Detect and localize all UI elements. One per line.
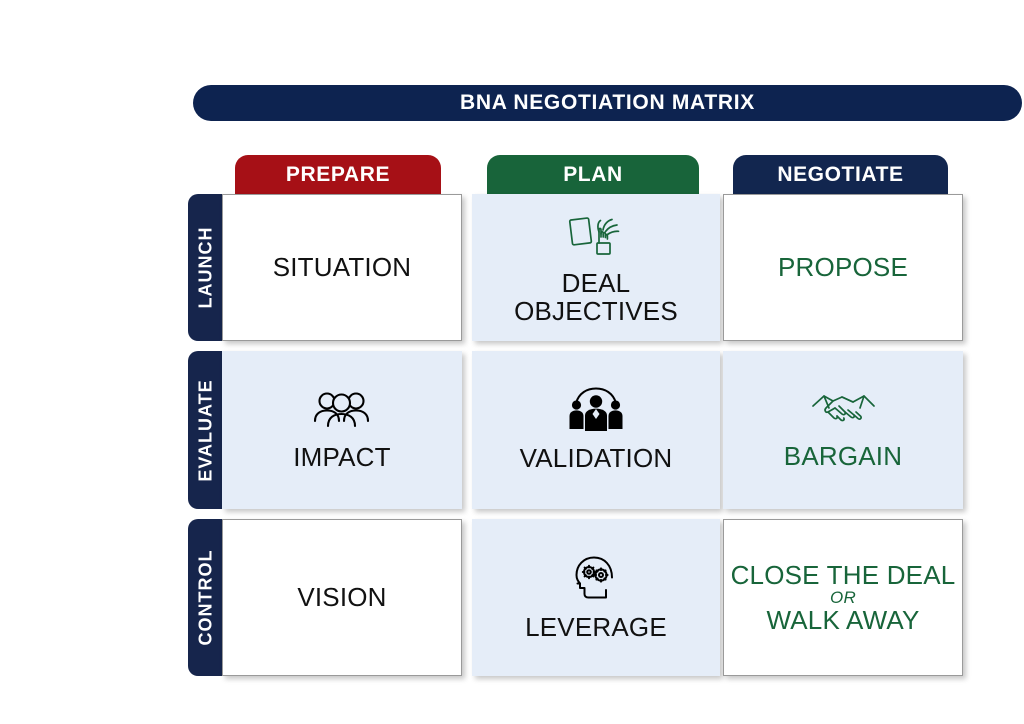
- cell-launch-plan-label-line2: OBJECTIVES: [514, 297, 678, 325]
- column-header-plan[interactable]: PLAN: [487, 155, 699, 195]
- cell-control-negotiate-label-or: OR: [731, 589, 956, 606]
- cell-launch-plan[interactable]: DEAL OBJECTIVES: [472, 194, 720, 341]
- cell-evaluate-plan[interactable]: VALIDATION: [472, 351, 720, 509]
- cell-launch-prepare[interactable]: SITUATION: [222, 194, 462, 341]
- column-header-negotiate-label: NEGOTIATE: [777, 163, 903, 187]
- head-with-gears-icon: [568, 554, 624, 607]
- cell-launch-prepare-label: SITUATION: [273, 253, 412, 281]
- cell-launch-negotiate[interactable]: PROPOSE: [723, 194, 963, 341]
- cell-control-negotiate-label-line2: WALK AWAY: [731, 606, 956, 634]
- handshake-icon: [808, 389, 878, 436]
- cell-launch-plan-label-line1: DEAL: [514, 269, 678, 297]
- column-header-negotiate[interactable]: NEGOTIATE: [733, 155, 948, 195]
- matrix-title-banner: BNA NEGOTIATION MATRIX: [193, 85, 1022, 121]
- cell-evaluate-prepare[interactable]: IMPACT: [222, 351, 462, 509]
- cell-evaluate-negotiate-label: BARGAIN: [784, 442, 902, 470]
- cell-control-prepare-label: VISION: [297, 583, 386, 611]
- row-tab-evaluate[interactable]: EVALUATE: [188, 351, 224, 509]
- group-of-people-icon: [307, 388, 377, 437]
- cell-evaluate-plan-label: VALIDATION: [520, 444, 673, 472]
- cell-launch-negotiate-label: PROPOSE: [778, 253, 908, 281]
- column-header-prepare-label: PREPARE: [286, 163, 390, 187]
- column-header-plan-label: PLAN: [563, 163, 623, 187]
- row-tab-evaluate-label: EVALUATE: [196, 379, 217, 481]
- row-tab-launch-label: LAUNCH: [196, 227, 217, 309]
- row-tab-control[interactable]: CONTROL: [188, 519, 224, 676]
- cell-control-negotiate-label-line1: CLOSE THE DEAL: [731, 561, 956, 589]
- cell-evaluate-negotiate[interactable]: BARGAIN: [723, 351, 963, 509]
- cell-evaluate-prepare-label: IMPACT: [293, 443, 391, 471]
- page-title: BNA NEGOTIATION MATRIX: [460, 91, 755, 115]
- team-leadership-icon: [565, 387, 627, 438]
- cell-control-negotiate[interactable]: CLOSE THE DEAL OR WALK AWAY: [723, 519, 963, 676]
- cell-control-prepare[interactable]: VISION: [222, 519, 462, 676]
- cell-control-plan-label: LEVERAGE: [525, 613, 667, 641]
- row-tab-launch[interactable]: LAUNCH: [188, 194, 224, 341]
- hand-holding-cards-icon: [565, 210, 627, 263]
- column-header-prepare[interactable]: PREPARE: [235, 155, 441, 195]
- cell-control-plan[interactable]: LEVERAGE: [472, 519, 720, 676]
- row-tab-control-label: CONTROL: [196, 550, 217, 646]
